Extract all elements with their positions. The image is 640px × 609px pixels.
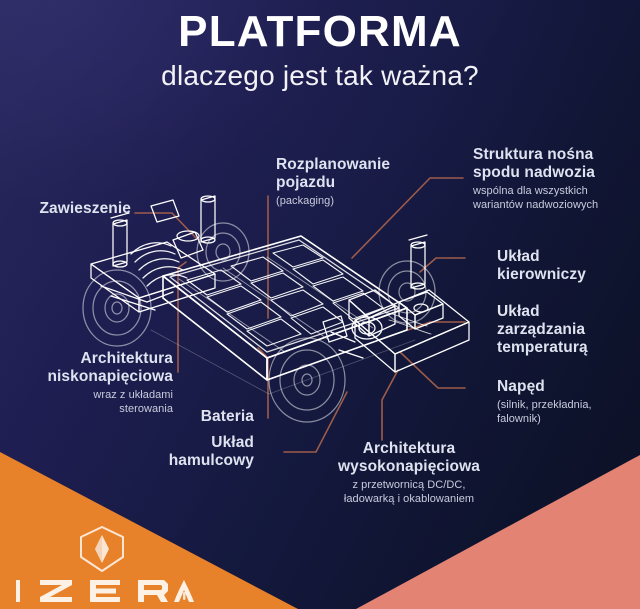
callout-underbody-structure[interactable]: Struktura nośna spodu nadwozia wspólna d… <box>473 146 638 212</box>
callout-packaging-head: Rozplanowanie pojazdu <box>276 156 436 192</box>
callout-vehicle-packaging[interactable]: Rozplanowanie pojazdu (packaging) <box>276 156 436 209</box>
infographic-canvas: PLATFORMA dlaczego jest tak ważna? <box>0 0 640 609</box>
callout-drivetrain[interactable]: Napęd (silnik, przekładnia, falownik) <box>497 378 637 426</box>
izera-wordmark <box>14 578 194 604</box>
callout-suspension-head: Zawieszenie <box>6 200 131 218</box>
callout-high-voltage-head: Architektura wysokonapięciowa <box>316 440 502 476</box>
callout-thermal-management[interactable]: Układ zarządzania temperaturą <box>497 303 640 360</box>
callout-high-voltage-architecture[interactable]: Architektura wysokonapięciowa z przetwor… <box>316 440 502 506</box>
callout-thermal-head: Układ zarządzania temperaturą <box>497 303 640 357</box>
izera-logo[interactable]: IZERA <box>14 524 204 602</box>
callout-low-voltage-head: Architektura niskonapięciowa <box>8 350 173 386</box>
izera-hexagon-flame-mark <box>76 524 128 574</box>
callout-underbody-head: Struktura nośna spodu nadwozia <box>473 146 638 182</box>
callout-suspension[interactable]: Zawieszenie <box>6 200 131 221</box>
callout-battery[interactable]: Bateria <box>118 408 254 429</box>
callout-low-voltage-architecture[interactable]: Architektura niskonapięciowa wraz z ukła… <box>8 350 173 416</box>
callout-battery-head: Bateria <box>118 408 254 426</box>
callout-underbody-sub: wspólna dla wszystkich wariantów nadwozi… <box>473 185 638 213</box>
callout-braking-system[interactable]: Układ hamulcowy <box>118 434 254 473</box>
callout-high-voltage-sub: z przetwornicą DC/DC, ładowarką i okablo… <box>316 479 502 507</box>
callout-drivetrain-head: Napęd <box>497 378 637 396</box>
callout-steering-system[interactable]: Układ kierowniczy <box>497 248 637 287</box>
callout-packaging-sub: (packaging) <box>276 195 436 209</box>
callout-braking-head: Układ hamulcowy <box>118 434 254 470</box>
callout-drivetrain-sub: (silnik, przekładnia, falownik) <box>497 399 637 427</box>
callout-steering-head: Układ kierowniczy <box>497 248 637 284</box>
